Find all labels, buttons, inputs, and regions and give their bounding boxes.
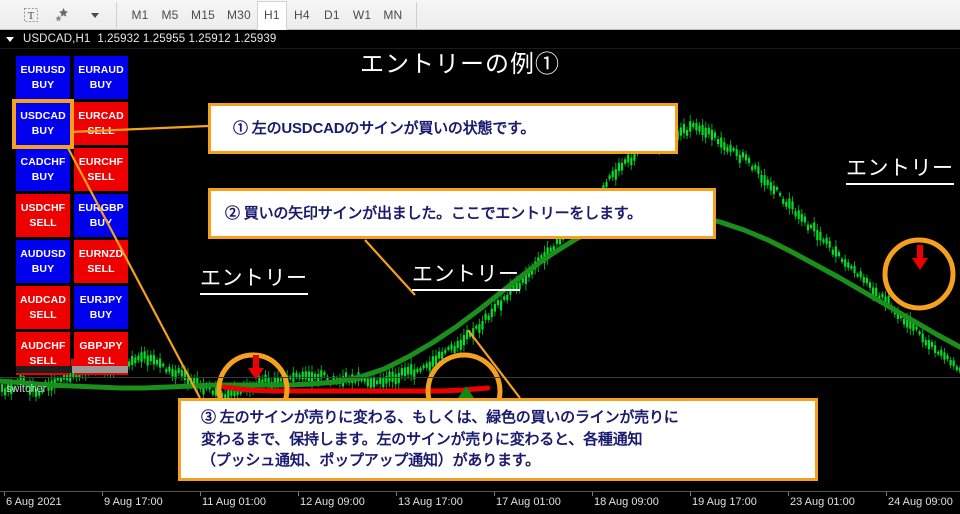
subwindow-label: switcher	[6, 383, 46, 395]
signal-cell-symbol: EURCHF	[79, 155, 123, 169]
callout-2-text: ② 買いの矢印サインが出ました。ここでエントリーをします。	[225, 203, 642, 225]
signal-cell-symbol: AUDCHF	[21, 339, 66, 353]
usdcad-highlight-box	[12, 99, 74, 149]
chevron-down-icon[interactable]	[82, 3, 108, 27]
signal-cell-eurnzd[interactable]: EURNZDSELL	[74, 240, 128, 283]
signal-cell-direction: SELL	[29, 308, 56, 322]
panel-scrollbar[interactable]	[16, 366, 128, 373]
entry-label-right: エントリー	[846, 152, 954, 185]
signal-cell-symbol: EURGBP	[78, 201, 124, 215]
signal-cell-eurgbp[interactable]: EURGBPBUY	[74, 194, 128, 237]
callout-box-3: ③ 左のサインが売りに変わる、もしくは、緑色の買いのラインが売りに 変わるまで、…	[178, 398, 818, 481]
time-axis-tickmark	[4, 492, 5, 496]
callout-box-2: ② 買いの矢印サインが出ました。ここでエントリーをします。	[208, 188, 716, 239]
signal-cell-direction: BUY	[32, 78, 54, 92]
timeframe-m1[interactable]: M1	[125, 2, 155, 28]
time-axis-tick-label: 23 Aug 01:00	[790, 496, 855, 508]
toolbar-divider-2	[416, 2, 417, 28]
signal-cell-direction: SELL	[87, 262, 114, 276]
time-axis-tick-label: 18 Aug 09:00	[594, 496, 659, 508]
signal-cell-symbol: GBPJPY	[79, 339, 122, 353]
signal-cell-symbol: CADCHF	[21, 155, 66, 169]
indicators-icon[interactable]	[50, 3, 76, 27]
timeframe-m30[interactable]: M30	[221, 2, 257, 28]
toolbar-divider	[116, 2, 117, 28]
signal-cell-direction: SELL	[29, 216, 56, 230]
time-axis-tickmark	[788, 492, 789, 496]
time-axis-tick-label: 24 Aug 09:00	[888, 496, 953, 508]
entry-label-mid: エントリー	[412, 258, 520, 291]
time-axis-tickmark	[396, 492, 397, 496]
chart-symbol-label: USDCAD,H1	[23, 33, 90, 45]
time-axis: 6 Aug 20219 Aug 17:0011 Aug 01:0012 Aug …	[0, 491, 960, 514]
signal-cell-eurcad[interactable]: EURCADSELL	[74, 102, 128, 145]
timeframe-h4[interactable]: H4	[287, 2, 317, 28]
time-axis-tickmark	[886, 492, 887, 496]
timeframe-d1[interactable]: D1	[317, 2, 347, 28]
text-tool-icon[interactable]: T	[18, 3, 44, 27]
timeframe-w1[interactable]: W1	[347, 2, 377, 28]
signal-cell-direction: BUY	[32, 262, 54, 276]
time-axis-tick-label: 19 Aug 17:00	[692, 496, 757, 508]
callout-3-text: ③ 左のサインが売りに変わる、もしくは、緑色の買いのラインが売りに 変わるまで、…	[201, 407, 679, 472]
sell-arrow-right	[912, 245, 928, 270]
time-axis-tick-label: 12 Aug 09:00	[300, 496, 365, 508]
signal-cell-direction: BUY	[32, 170, 54, 184]
callout-1-text: ① 左のUSDCADのサインが買いの状態です。	[233, 118, 535, 140]
time-axis-tick-label: 17 Aug 01:00	[496, 496, 561, 508]
signal-cell-audusd[interactable]: AUDUSDBUY	[16, 240, 70, 283]
time-axis-tickmark	[102, 492, 103, 496]
signal-cell-direction: SELL	[87, 124, 114, 138]
signal-cell-eurjpy[interactable]: EURJPYBUY	[74, 286, 128, 329]
signal-cell-symbol: AUDUSD	[20, 247, 66, 261]
signal-cell-direction: BUY	[90, 78, 112, 92]
time-axis-tick-label: 9 Aug 17:00	[104, 496, 163, 508]
callout-box-1: ① 左のUSDCADのサインが買いの状態です。	[208, 103, 678, 154]
signal-cell-symbol: USDCHF	[21, 201, 65, 215]
time-axis-tickmark	[298, 492, 299, 496]
signal-cell-cadchf[interactable]: CADCHFBUY	[16, 148, 70, 191]
panel-scrollbar-thumb[interactable]	[72, 366, 128, 373]
timeframe-m5[interactable]: M5	[155, 2, 185, 28]
mt4-chart-window: T M1 M5 M15 M30 H1 H4 D1 W1 MN USDCA	[0, 0, 960, 514]
timeframe-h1[interactable]: H1	[257, 1, 287, 30]
signal-cell-symbol: EURJPY	[80, 293, 123, 307]
time-axis-tickmark	[592, 492, 593, 496]
timeframe-mn[interactable]: MN	[377, 2, 408, 28]
time-axis-tickmark	[200, 492, 201, 496]
collapse-triangle-icon[interactable]	[6, 37, 14, 42]
signal-cell-direction: SELL	[87, 170, 114, 184]
signal-cell-symbol: EURCAD	[78, 109, 124, 123]
chart-ohlc-values: 1.25932 1.25955 1.25912 1.25939	[97, 33, 276, 45]
toolbar: T M1 M5 M15 M30 H1 H4 D1 W1 MN	[0, 0, 960, 30]
timeframe-group: M1 M5 M15 M30 H1 H4 D1 W1 MN	[125, 0, 408, 30]
signal-cell-symbol: EURNZD	[79, 247, 123, 261]
page-title: エントリーの例①	[360, 44, 560, 79]
time-axis-tick-label: 13 Aug 17:00	[398, 496, 463, 508]
signal-cell-direction: BUY	[90, 308, 112, 322]
signal-cell-symbol: EURUSD	[21, 63, 66, 77]
signal-cell-eurchf[interactable]: EURCHFSELL	[74, 148, 128, 191]
signal-cell-euraud[interactable]: EURAUDBUY	[74, 56, 128, 99]
time-axis-tickmark	[690, 492, 691, 496]
signal-cell-usdchf[interactable]: USDCHFSELL	[16, 194, 70, 237]
signal-cell-audcad[interactable]: AUDCADSELL	[16, 286, 70, 329]
time-axis-tick-label: 11 Aug 01:00	[202, 496, 266, 508]
entry-label-left: エントリー	[200, 262, 308, 295]
time-axis-tick-label: 6 Aug 2021	[6, 496, 62, 508]
subwindow-divider	[0, 377, 960, 378]
svg-text:T: T	[28, 10, 35, 22]
signal-cell-symbol: AUDCAD	[20, 293, 66, 307]
timeframe-m15[interactable]: M15	[185, 2, 221, 28]
signal-cell-symbol: EURAUD	[78, 63, 124, 77]
signal-cell-eurusd[interactable]: EURUSDBUY	[16, 56, 70, 99]
signal-cell-direction: BUY	[90, 216, 112, 230]
time-axis-tickmark	[494, 492, 495, 496]
